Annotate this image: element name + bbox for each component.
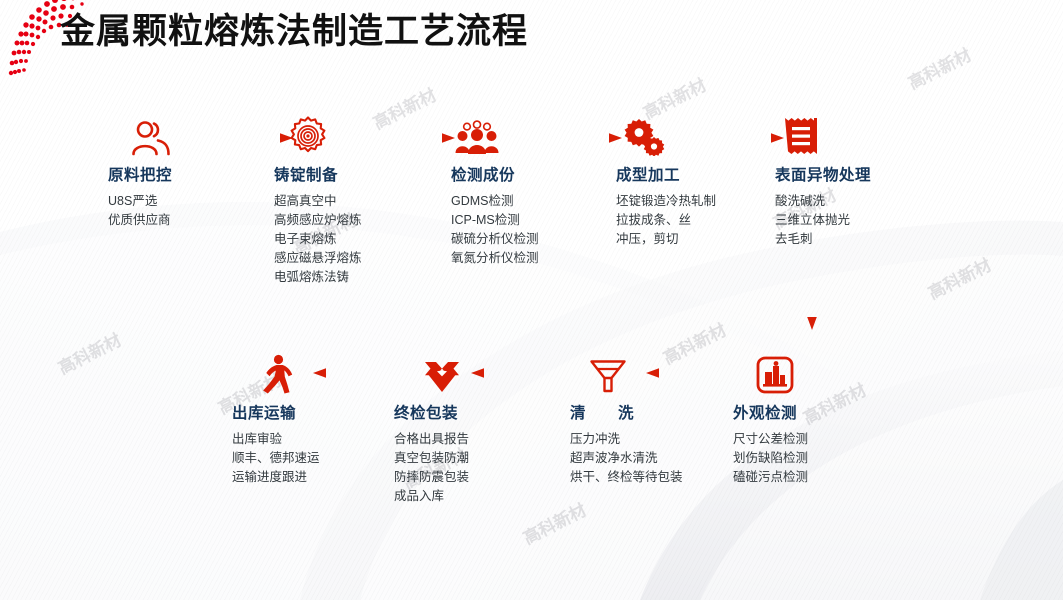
flow-node-detail-list: 压力冲洗超声波净水清洗烘干、终检等待包装 [570, 430, 695, 487]
flow-arrow-right [707, 131, 785, 143]
flow-node-title: 出库运输 [232, 401, 382, 423]
flow-node-detail-line: 划伤缺陷检测 [733, 449, 873, 468]
flow-node-detail-line: 出库审验 [232, 430, 382, 449]
flow-node-detail-list: 出库审验顺丰、德邦速运运输进度跟进 [232, 430, 382, 487]
flow-node-title: 表面异物处理 [775, 163, 940, 185]
page-title-bar: 金属颗粒熔炼法制造工艺流程 [60, 8, 528, 55]
flow-node-detail-line: 碳硫分析仪检测 [451, 230, 611, 249]
flow-arrow-left [470, 366, 548, 378]
flow-node-title: 原料把控 [108, 163, 258, 185]
flow-node-detail-line: 优质供应商 [108, 211, 258, 230]
flow-node-detail-line: 超高真空中 [274, 192, 434, 211]
flow-node-title: 成型加工 [616, 163, 766, 185]
flow-node-detail-line: 顺丰、德邦速运 [232, 449, 382, 468]
flow-node-appearance-inspection[interactable]: 外观检测尺寸公差检测划伤缺陷检测磕碰污点检测 [733, 352, 873, 487]
background-hatch-texture [0, 0, 1063, 600]
inspection-frame-icon [756, 352, 873, 394]
flow-node-detail-line: 磕碰污点检测 [733, 468, 873, 487]
watermark-text: 高科新材 [903, 41, 975, 94]
background-decoration [0, 0, 1063, 600]
flow-node-detail-line: GDMS检测 [451, 192, 611, 211]
flow-node-detail-line: 去毛刺 [775, 230, 940, 249]
watermark-text: 高科新材 [923, 251, 995, 304]
flow-node-title: 外观检测 [733, 401, 873, 423]
flow-node-detail-list: 合格出具报告真空包装防潮防摔防震包装成品入库 [394, 430, 544, 506]
flow-node-detail-line: 真空包装防潮 [394, 449, 544, 468]
flow-node-surface-foreign-matter[interactable]: 表面异物处理酸洗碱洗三维立体抛光去毛刺 [775, 114, 940, 249]
flow-node-title: 清 洗 [570, 401, 695, 423]
flow-node-detail-line: 冲压，剪切 [616, 230, 766, 249]
flow-arrow-left [645, 366, 723, 378]
flow-node-detail-line: ICP-MS检测 [451, 211, 611, 230]
flow-node-detail-list: 坯锭锻造冷热轧制拉拔成条、丝冲压，剪切 [616, 192, 766, 249]
flow-node-detail-line: 成品入库 [394, 487, 544, 506]
flow-arrow-left [312, 366, 390, 378]
flow-arrow-right [216, 131, 294, 143]
flow-node-title: 铸锭制备 [274, 163, 434, 185]
flow-node-title: 终检包装 [394, 401, 544, 423]
flow-node-detail-list: 尺寸公差检测划伤缺陷检测磕碰污点检测 [733, 430, 873, 487]
flow-arrow-down [806, 261, 818, 336]
flow-node-detail-line: 电子束熔炼 [274, 230, 434, 249]
flow-node-detail-line: 防摔防震包装 [394, 468, 544, 487]
flow-node-detail-list: 酸洗碱洗三维立体抛光去毛刺 [775, 192, 940, 249]
flow-node-detail-line: 拉拔成条、丝 [616, 211, 766, 230]
flow-node-detail-line: U8S严选 [108, 192, 258, 211]
background-swoosh-shapes [0, 0, 1063, 600]
flow-node-detail-line: 三维立体抛光 [775, 211, 940, 230]
page-title: 金属颗粒熔炼法制造工艺流程 [60, 8, 528, 55]
flow-node-detail-list: GDMS检测ICP-MS检测碳硫分析仪检测氧氮分析仪检测 [451, 192, 611, 268]
flow-node-detail-line: 坯锭锻造冷热轧制 [616, 192, 766, 211]
flow-node-detail-line: 运输进度跟进 [232, 468, 382, 487]
flow-node-detail-line: 压力冲洗 [570, 430, 695, 449]
flow-node-detail-line: 尺寸公差检测 [733, 430, 873, 449]
flow-arrow-right [545, 131, 623, 143]
flow-node-detail-line: 氧氮分析仪检测 [451, 249, 611, 268]
document-stack-icon [783, 114, 940, 156]
flow-node-detail-list: 超高真空中高频感应炉熔炼电子束熔炼感应磁悬浮熔炼电弧熔炼法铸 [274, 192, 434, 287]
flow-node-detail-line: 烘干、终检等待包装 [570, 468, 695, 487]
flow-node-title: 检测成份 [451, 163, 611, 185]
flow-node-detail-line: 感应磁悬浮熔炼 [274, 249, 434, 268]
flow-node-detail-line: 合格出具报告 [394, 430, 544, 449]
flow-arrow-right [378, 131, 456, 143]
flow-node-detail-line: 电弧熔炼法铸 [274, 268, 434, 287]
flow-node-detail-line: 高频感应炉熔炼 [274, 211, 434, 230]
flow-node-detail-line: 超声波净水清洗 [570, 449, 695, 468]
watermark-text: 高科新材 [53, 326, 125, 379]
flow-node-detail-line: 酸洗碱洗 [775, 192, 940, 211]
flow-node-detail-list: U8S严选优质供应商 [108, 192, 258, 230]
